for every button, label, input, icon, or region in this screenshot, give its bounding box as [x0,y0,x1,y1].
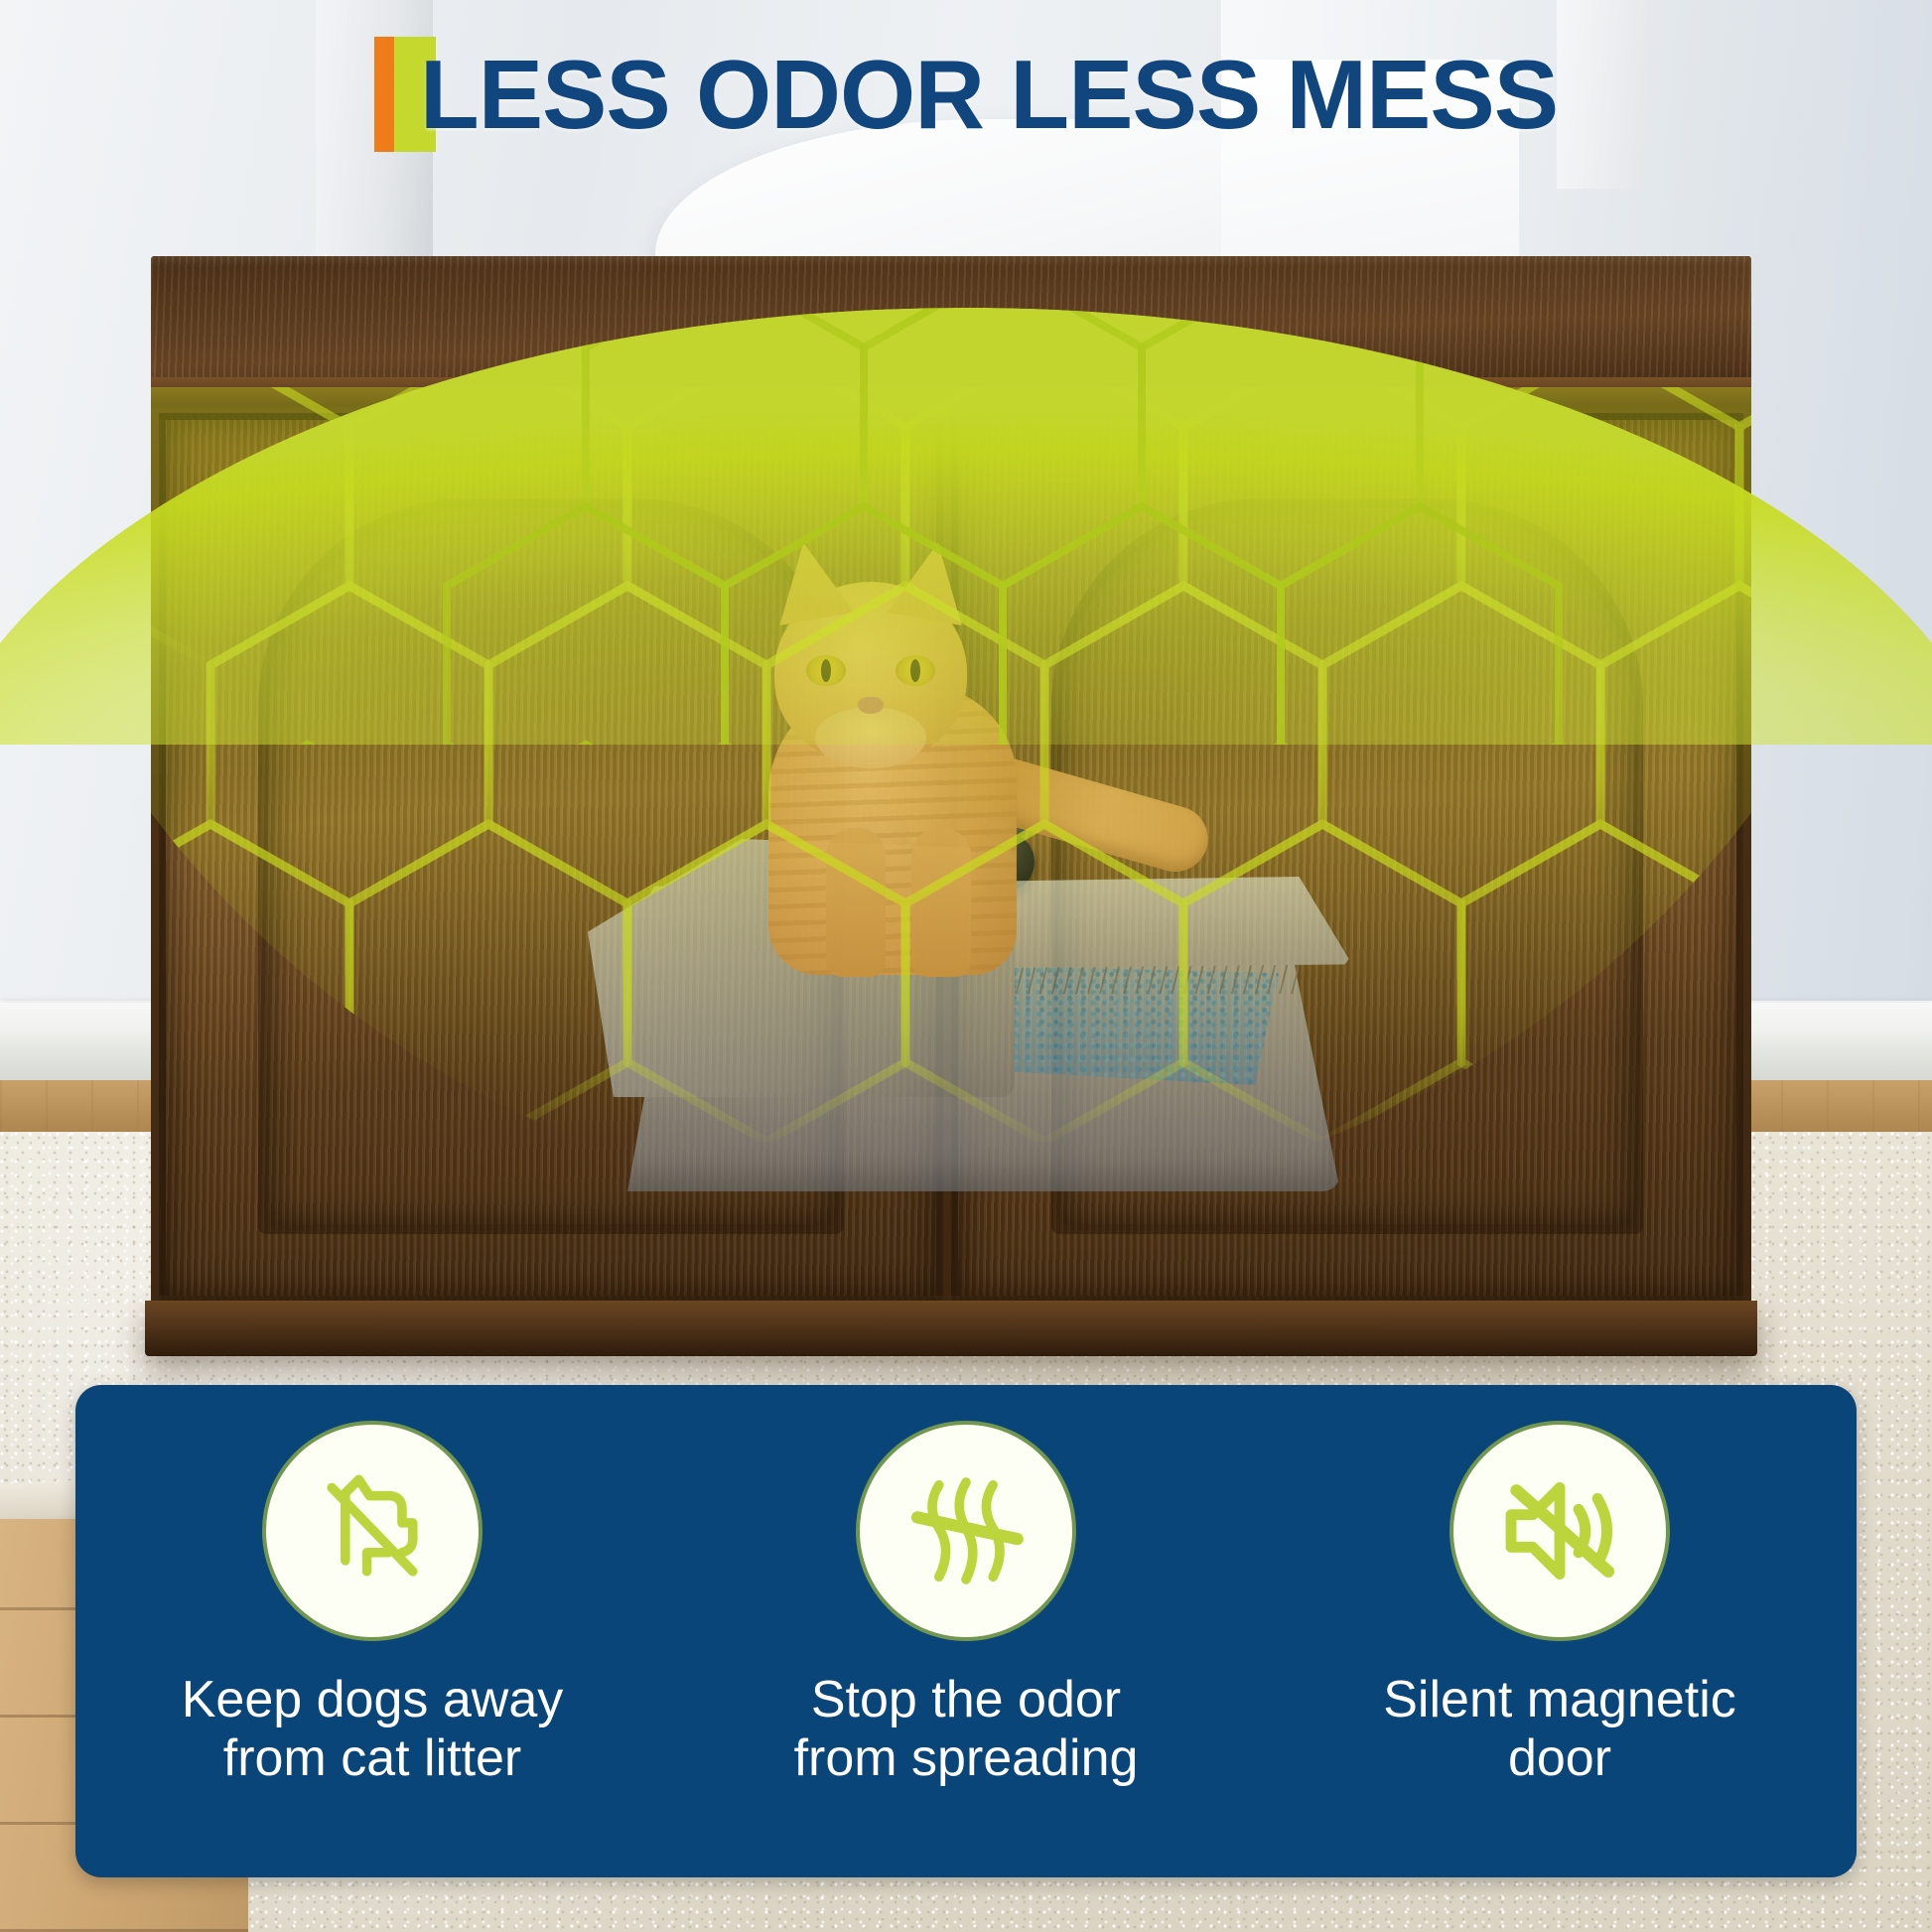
feature-icon-badge [1453,1425,1666,1637]
feature-highlights-panel: Keep dogs away from cat litter Stop the … [75,1385,1857,1877]
litter-box-cabinet [151,256,1751,1363]
cabinet-body [151,407,1751,1309]
feature-item: Silent magnetic door [1263,1385,1857,1789]
no-odor-waves-icon [898,1463,1034,1598]
door-panel-right [1051,498,1643,1234]
cabinet-door-left [159,413,943,1303]
headline-text: LESS ODOR LESS MESS [420,46,1558,143]
accent-bar-orange [374,37,394,152]
door-panel-left [258,498,844,1234]
headline: LESS ODOR LESS MESS [0,30,1932,159]
feature-label: Stop the odor from spreading [794,1671,1139,1789]
cabinet-top-surface [151,256,1751,385]
cabinet-door-right [951,413,1743,1303]
mute-speaker-icon [1492,1463,1627,1598]
cabinet-base-plinth [145,1301,1757,1356]
cabinet-top-edge [151,377,1751,411]
feature-icon-badge [266,1425,479,1637]
feature-icon-badge [860,1425,1072,1637]
feature-label: Silent magnetic door [1383,1671,1736,1789]
cabinet-knob-right [975,832,1035,892]
no-dog-icon [305,1463,440,1598]
product-marketing-image: LESS ODOR LESS MESS Keep dogs away from … [0,0,1932,1932]
cabinet-knob-left [858,832,917,892]
feature-item: Stop the odor from spreading [669,1385,1263,1789]
feature-label: Keep dogs away from cat litter [182,1671,564,1789]
feature-item: Keep dogs away from cat litter [75,1385,669,1789]
